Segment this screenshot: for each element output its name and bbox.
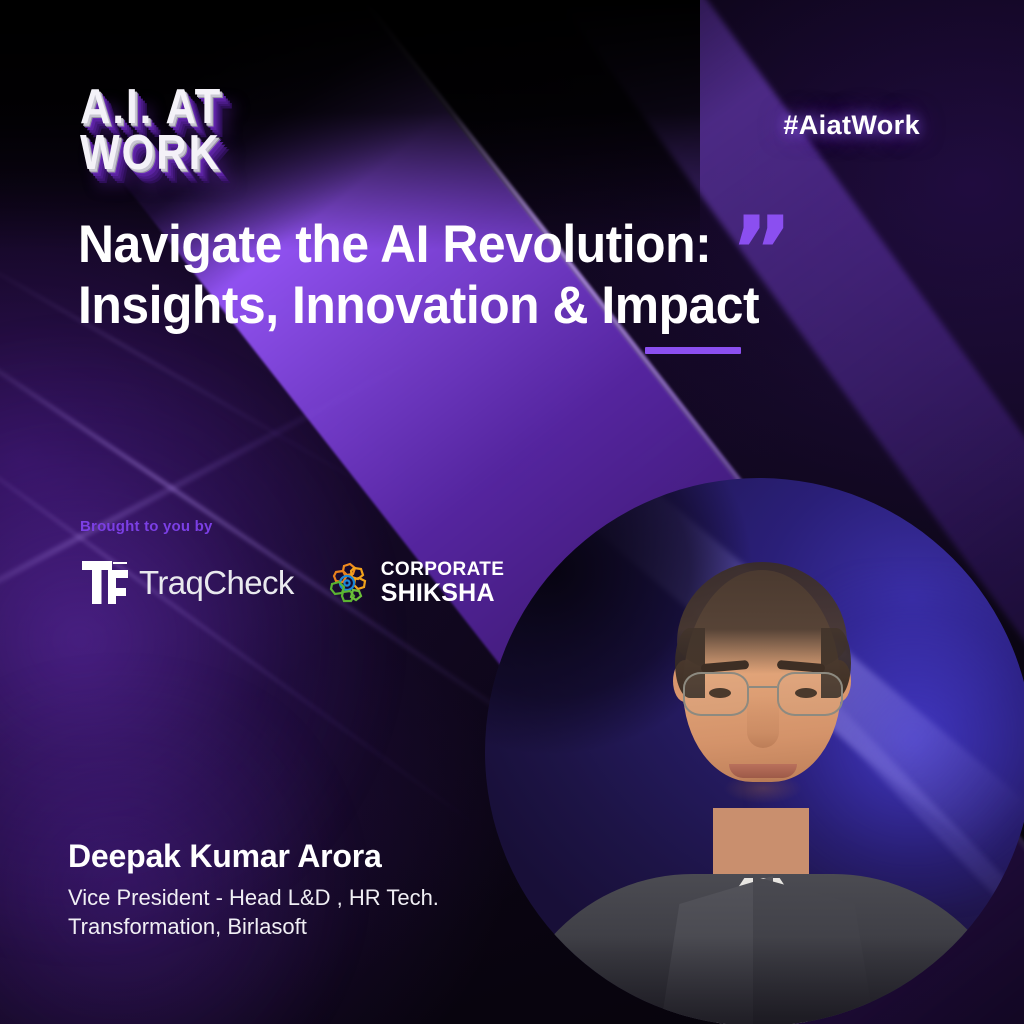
lens-left: [683, 672, 749, 716]
sponsors-label: Brought to you by: [80, 518, 504, 535]
headline-block: Navigate the AI Revolution: Insights, In…: [78, 214, 838, 337]
portrait-bottom-fade: [485, 936, 1024, 1024]
speaker-portrait: [485, 478, 1024, 1024]
headline-accent-bar: [645, 347, 741, 354]
sponsors-block: Brought to you by: [80, 518, 504, 609]
traqcheck-wordmark: TraqCheck: [139, 564, 294, 602]
corporate-shiksha-cluster-icon: [326, 562, 370, 604]
speaker-info: Deepak Kumar Arora Vice President - Head…: [68, 838, 508, 942]
sponsor-corporate-shiksha: CORPORATE SHIKSHA: [326, 560, 505, 606]
sponsor-traqcheck: TraqCheck: [80, 557, 294, 609]
promo-poster: A.I. AT WORK #AiatWork Navigate the AI R…: [0, 0, 1024, 1024]
speaker-role-line-1: Vice President - Head L&D , HR Tech.: [68, 885, 439, 910]
sponsor-logos-row: TraqCheck: [80, 557, 504, 609]
headline-line-2: Insights, Innovation & Impact: [78, 275, 792, 336]
speaker-role: Vice President - Head L&D , HR Tech. Tra…: [68, 883, 508, 942]
nose: [747, 696, 779, 748]
quote-mark-icon: ”: [730, 204, 793, 300]
lens-right: [777, 672, 843, 716]
speaker-role-line-2: Transformation, Birlasoft: [68, 914, 307, 939]
chin-shadow: [711, 778, 815, 812]
headline-line-1: Navigate the AI Revolution:: [78, 214, 792, 275]
mouth: [729, 764, 797, 778]
speaker-name: Deepak Kumar Arora: [68, 838, 508, 875]
logo-line-1: A.I. AT: [80, 84, 310, 130]
event-hashtag: #AiatWork: [783, 110, 920, 141]
traqcheck-monogram-icon: [80, 557, 136, 609]
logo-line-2: WORK: [80, 130, 310, 176]
ai-at-work-logo: A.I. AT WORK: [80, 84, 310, 216]
glasses-bridge: [749, 686, 777, 688]
